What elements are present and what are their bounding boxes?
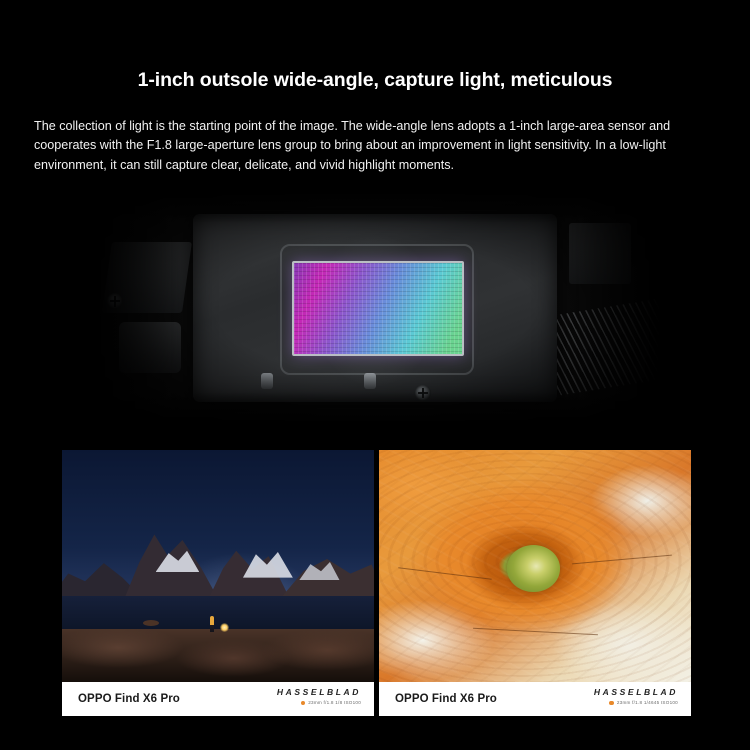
hasselblad-logo: HASSELBLAD bbox=[277, 687, 361, 697]
sample-card: OPPO Find X6 Pro HASSELBLAD 23mm f/1.8 1… bbox=[379, 450, 691, 716]
green-pool bbox=[507, 545, 560, 591]
mount-post bbox=[364, 373, 376, 389]
sensor-scene bbox=[90, 190, 660, 425]
exif-line: 23mm f/1.8 1/4645 ISO100 bbox=[594, 700, 678, 705]
exif-text: 23mm f/1.8 1/8 ISO100 bbox=[308, 700, 361, 705]
hot-spring-aerial-photo bbox=[379, 450, 691, 682]
photo-caption-bar: OPPO Find X6 Pro HASSELBLAD 23mm f/1.8 1… bbox=[62, 682, 374, 716]
image-sensor-die bbox=[292, 261, 464, 357]
product-feature-page: 1-inch outsole wide-angle, capture light… bbox=[0, 0, 750, 750]
brand-block: HASSELBLAD 23mm f/1.8 1/4645 ISO100 bbox=[594, 687, 678, 705]
page-title: 1-inch outsole wide-angle, capture light… bbox=[0, 69, 750, 92]
device-name: OPPO Find X6 Pro bbox=[395, 693, 497, 705]
lantern-light bbox=[220, 623, 229, 632]
snow-cap bbox=[243, 550, 293, 578]
camera-sensor-module-photo bbox=[90, 190, 660, 425]
body-copy: The collection of light is the starting … bbox=[34, 117, 716, 176]
brand-block: HASSELBLAD 23mm f/1.8 1/8 ISO100 bbox=[277, 687, 361, 705]
circuit-block-lower-left bbox=[119, 322, 182, 374]
accent-dot-icon bbox=[301, 701, 306, 706]
device-name: OPPO Find X6 Pro bbox=[78, 693, 180, 705]
sample-card: OPPO Find X6 Pro HASSELBLAD 23mm f/1.8 1… bbox=[62, 450, 374, 716]
exif-line: 23mm f/1.8 1/8 ISO100 bbox=[277, 700, 361, 705]
accent-dot-icon bbox=[609, 701, 614, 706]
photo-caption-bar: OPPO Find X6 Pro HASSELBLAD 23mm f/1.8 1… bbox=[379, 682, 691, 716]
rocky-foreground bbox=[62, 629, 374, 682]
mountain-range bbox=[62, 529, 374, 599]
circuit-block-right bbox=[569, 223, 632, 284]
twilight-mountain-lake-photo bbox=[62, 450, 374, 682]
person-figure bbox=[210, 616, 214, 632]
mount-post bbox=[261, 373, 273, 389]
hasselblad-logo: HASSELBLAD bbox=[594, 687, 678, 697]
sample-photo-gallery: OPPO Find X6 Pro HASSELBLAD 23mm f/1.8 1… bbox=[62, 450, 691, 716]
screw-icon bbox=[415, 385, 431, 401]
exif-text: 23mm f/1.8 1/4645 ISO100 bbox=[617, 700, 678, 705]
